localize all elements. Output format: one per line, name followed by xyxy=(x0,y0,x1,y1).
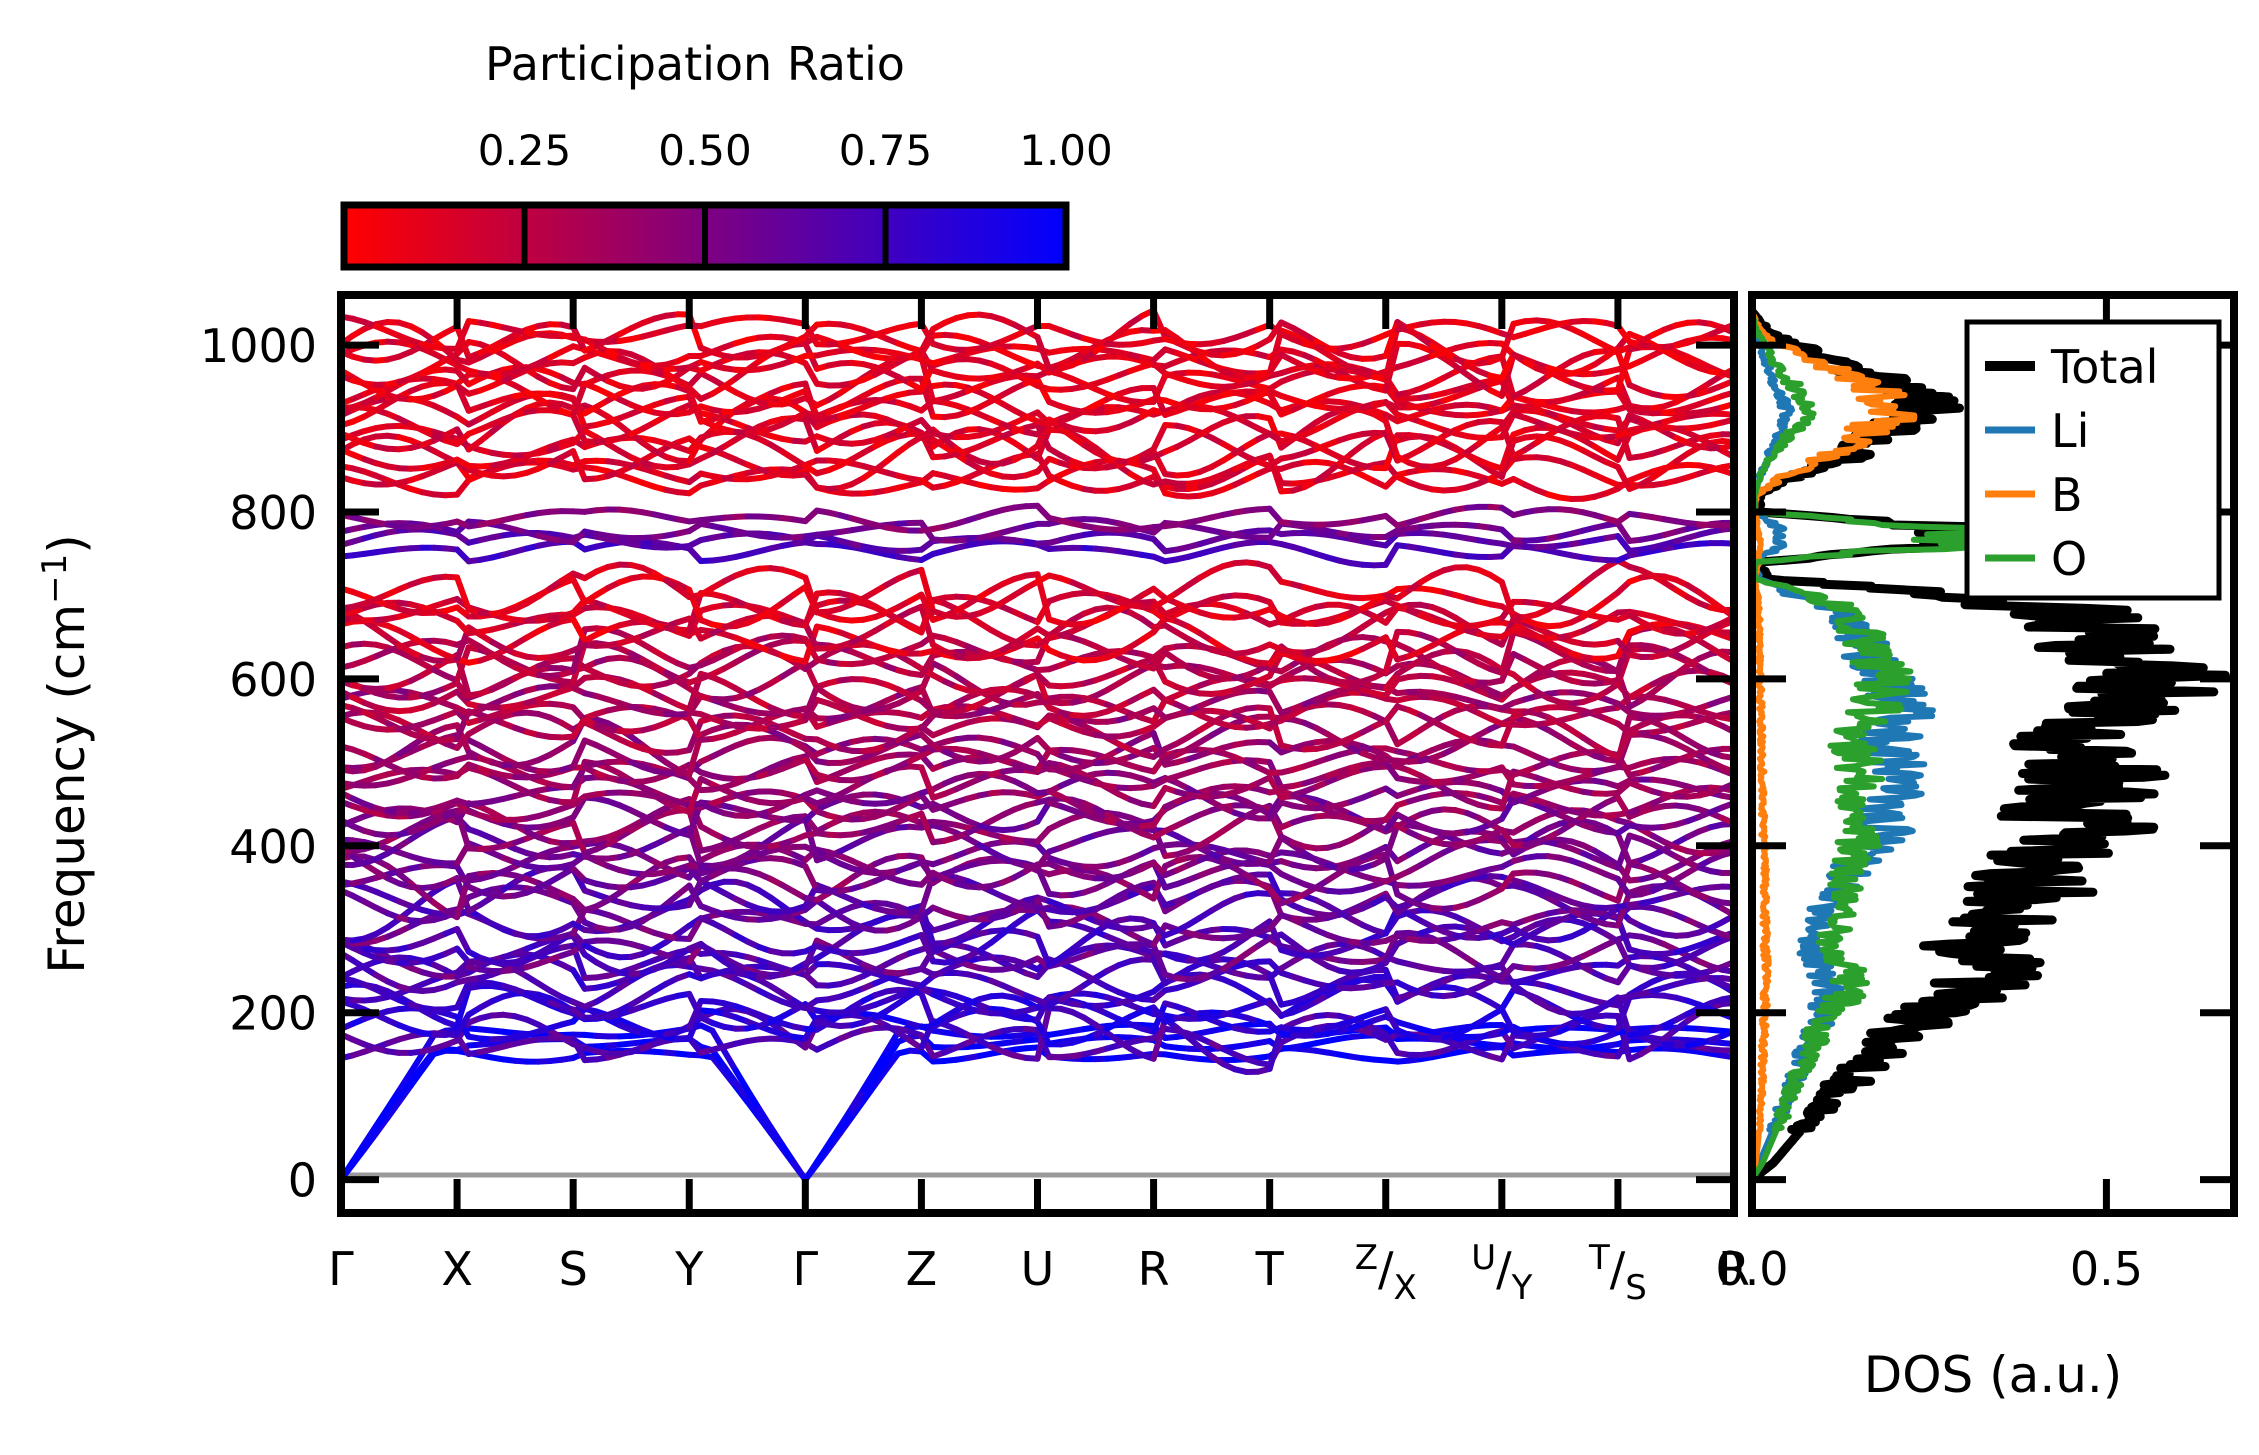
figure-canvas: Participation Ratio 0.250.500.751.00 ΓXS… xyxy=(0,0,2259,1455)
colorbar-title: Participation Ratio xyxy=(485,37,905,91)
phonon-figure: Participation Ratio 0.250.500.751.00 ΓXS… xyxy=(0,0,2259,1455)
colorbar-tick-label: 0.75 xyxy=(839,126,933,175)
colorbar-tick-label: 0.50 xyxy=(658,126,752,175)
colorbar-tick-label: 0.25 xyxy=(478,126,572,175)
colorbar-tick-label: 1.00 xyxy=(1019,126,1113,175)
